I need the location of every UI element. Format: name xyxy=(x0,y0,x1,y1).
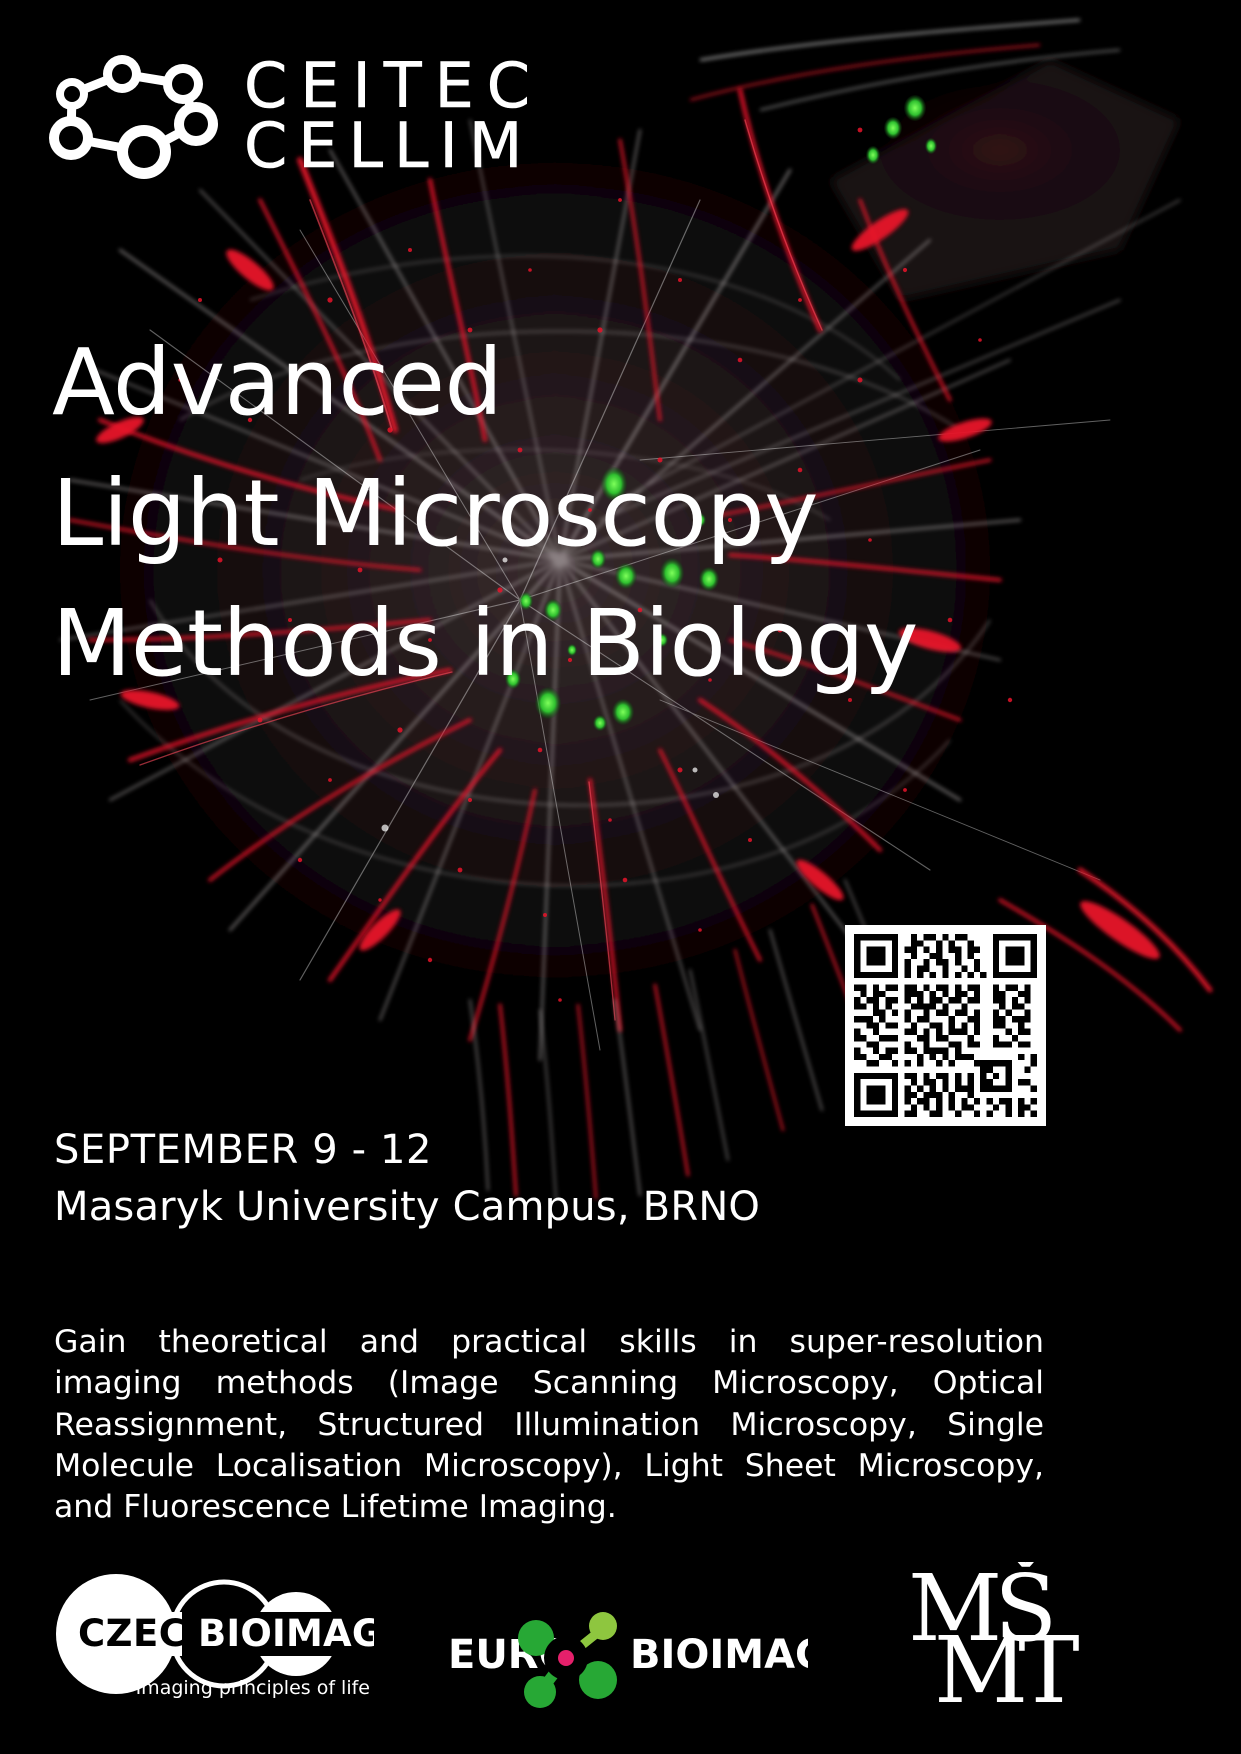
brand-line-ceitec: CEITEC xyxy=(244,56,543,116)
partner-logos: CZECH BIOIMAGING Imaging principles of l… xyxy=(0,1552,1241,1754)
euro-bioimaging-logo: EURO BIOIMAG xyxy=(448,1610,808,1725)
ceitec-cellim-logo: CEITEC CELLIM xyxy=(36,52,543,182)
qr-code-image xyxy=(854,934,1037,1117)
registration-qr-code[interactable] xyxy=(845,925,1046,1126)
title-line-3: Methods in Biology xyxy=(52,579,918,710)
brand-line-cellim: CELLIM xyxy=(244,116,543,176)
poster-root: CEITEC CELLIM Advanced Light Microscopy … xyxy=(0,0,1241,1754)
event-details: SEPTEMBER 9 - 12 Masaryk University Camp… xyxy=(54,1122,760,1236)
msmt-logo-bottom: MT xyxy=(934,1617,1079,1724)
event-venue: Masaryk University Campus, BRNO xyxy=(54,1179,760,1236)
ceitec-hexagon-molecule-icon xyxy=(36,52,226,182)
title-line-2: Light Microscopy xyxy=(52,449,918,580)
title-line-1: Advanced xyxy=(52,318,918,449)
czech-bioimaging-word-bioimaging: BIOIMAGING xyxy=(198,1612,374,1655)
page-title: Advanced Light Microscopy Methods in Bio… xyxy=(52,318,918,710)
euro-bioimaging-word-bioimaging: BIOIMAGING xyxy=(630,1632,808,1678)
msmt-logo: MŠ MT xyxy=(900,1562,1080,1737)
event-description: Gain theoretical and practical skills in… xyxy=(54,1322,1044,1528)
czech-bioimaging-tagline: Imaging principles of life xyxy=(136,1677,370,1699)
event-dates: SEPTEMBER 9 - 12 xyxy=(54,1122,760,1179)
czech-bioimaging-logo: CZECH BIOIMAGING Imaging principles of l… xyxy=(44,1572,374,1737)
